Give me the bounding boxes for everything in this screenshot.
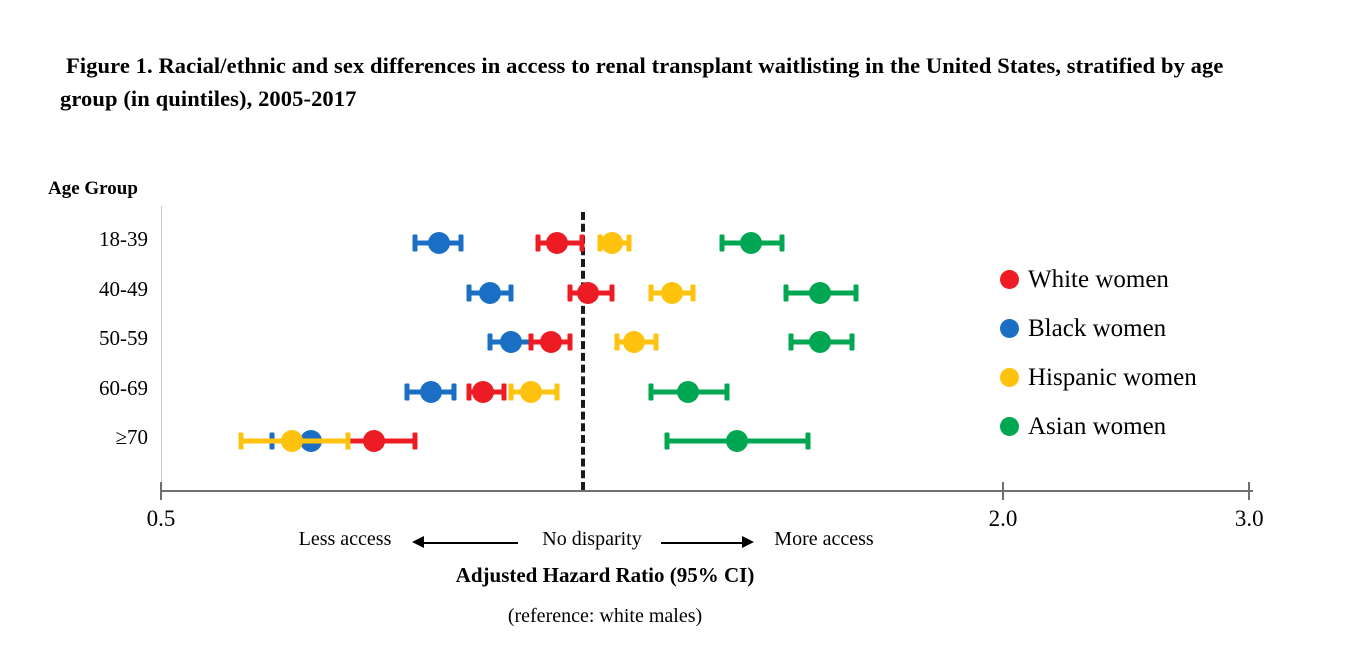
left-arrow-icon [412, 536, 424, 548]
point-estimate-marker[interactable] [577, 282, 599, 304]
point-estimate-marker[interactable] [740, 232, 762, 254]
confidence-interval-cap [850, 334, 855, 351]
confidence-interval-cap [648, 384, 653, 401]
point-estimate-marker[interactable] [809, 282, 831, 304]
confidence-interval-cap [690, 285, 695, 302]
confidence-interval-cap [555, 384, 560, 401]
point-estimate-marker[interactable] [281, 430, 303, 452]
confidence-interval-cap [509, 285, 514, 302]
confidence-interval-cap [654, 334, 659, 351]
confidence-interval-cap [413, 433, 418, 450]
confidence-interval-cap [626, 235, 631, 252]
legend-swatch-icon [1000, 319, 1019, 338]
legend-swatch-icon [1000, 417, 1019, 436]
confidence-interval-cap [725, 384, 730, 401]
confidence-interval-cap [413, 235, 418, 252]
legend-item[interactable]: White women [1000, 255, 1197, 304]
point-estimate-marker[interactable] [546, 232, 568, 254]
legend-label: Hispanic women [1028, 364, 1197, 392]
legend-item[interactable]: Black women [1000, 304, 1197, 353]
more-access-label: More access [774, 528, 873, 551]
point-estimate-marker[interactable] [520, 381, 542, 403]
x-axis-tick [1248, 482, 1250, 500]
less-access-label: Less access [299, 528, 392, 551]
x-axis-title: Adjusted Hazard Ratio (95% CI) [0, 563, 1210, 588]
confidence-interval-cap [664, 433, 669, 450]
legend-label: White women [1028, 266, 1169, 294]
x-axis-line [161, 490, 1253, 492]
left-arrow-line [424, 542, 518, 544]
confidence-interval-cap [853, 285, 858, 302]
confidence-interval-cap [648, 285, 653, 302]
forest-plot: Age Group 18-3940-4950-5960-69≥70 0.52.0… [0, 0, 1346, 662]
confidence-interval-cap [466, 285, 471, 302]
point-estimate-marker[interactable] [623, 331, 645, 353]
confidence-interval-cap [805, 433, 810, 450]
confidence-interval-cap [452, 384, 457, 401]
confidence-interval-cap [720, 235, 725, 252]
y-axis-tick-label: 60-69 [28, 378, 148, 399]
confidence-interval-cap [488, 334, 493, 351]
point-estimate-marker[interactable] [428, 232, 450, 254]
confidence-interval-cap [567, 334, 572, 351]
confidence-interval-cap [788, 334, 793, 351]
point-estimate-marker[interactable] [677, 381, 699, 403]
y-axis-tick-label: ≥70 [28, 427, 148, 448]
y-axis-header: Age Group [48, 178, 138, 200]
y-axis-line [161, 206, 162, 491]
confidence-interval-cap [567, 285, 572, 302]
point-estimate-marker[interactable] [601, 232, 623, 254]
point-estimate-marker[interactable] [420, 381, 442, 403]
point-estimate-marker[interactable] [479, 282, 501, 304]
legend-label: Black women [1028, 315, 1166, 343]
confidence-interval-cap [405, 384, 410, 401]
x-axis-tick [160, 482, 162, 500]
y-axis-tick-label: 40-49 [28, 279, 148, 300]
x-axis-subtitle: (reference: white males) [0, 605, 1210, 628]
confidence-interval-cap [580, 235, 585, 252]
confidence-interval-cap [609, 285, 614, 302]
point-estimate-marker[interactable] [363, 430, 385, 452]
point-estimate-marker[interactable] [726, 430, 748, 452]
right-arrow-line [661, 542, 742, 544]
no-disparity-label: No disparity [542, 528, 641, 551]
legend-item[interactable]: Hispanic women [1000, 353, 1197, 402]
point-estimate-marker[interactable] [472, 381, 494, 403]
point-estimate-marker[interactable] [809, 331, 831, 353]
legend-item[interactable]: Asian women [1000, 402, 1197, 451]
confidence-interval-cap [529, 334, 534, 351]
confidence-interval-cap [535, 235, 540, 252]
x-axis-tick [1002, 482, 1004, 500]
null-reference-line [581, 212, 585, 490]
confidence-interval-cap [502, 384, 507, 401]
direction-annotation: Less access No disparity More access [161, 528, 1253, 558]
confidence-interval-cap [238, 433, 243, 450]
legend-label: Asian women [1028, 413, 1166, 441]
y-axis-tick-label: 18-39 [28, 229, 148, 250]
confidence-interval-cap [780, 235, 785, 252]
y-axis-tick-label: 50-59 [28, 328, 148, 349]
confidence-interval-cap [345, 433, 350, 450]
confidence-interval-cap [784, 285, 789, 302]
point-estimate-marker[interactable] [500, 331, 522, 353]
confidence-interval-cap [509, 384, 514, 401]
confidence-interval-cap [615, 334, 620, 351]
legend-swatch-icon [1000, 270, 1019, 289]
point-estimate-marker[interactable] [661, 282, 683, 304]
legend: White womenBlack womenHispanic womenAsia… [1000, 255, 1197, 451]
right-arrow-icon [742, 536, 754, 548]
confidence-interval-cap [459, 235, 464, 252]
point-estimate-marker[interactable] [540, 331, 562, 353]
confidence-interval-cap [466, 384, 471, 401]
legend-swatch-icon [1000, 368, 1019, 387]
